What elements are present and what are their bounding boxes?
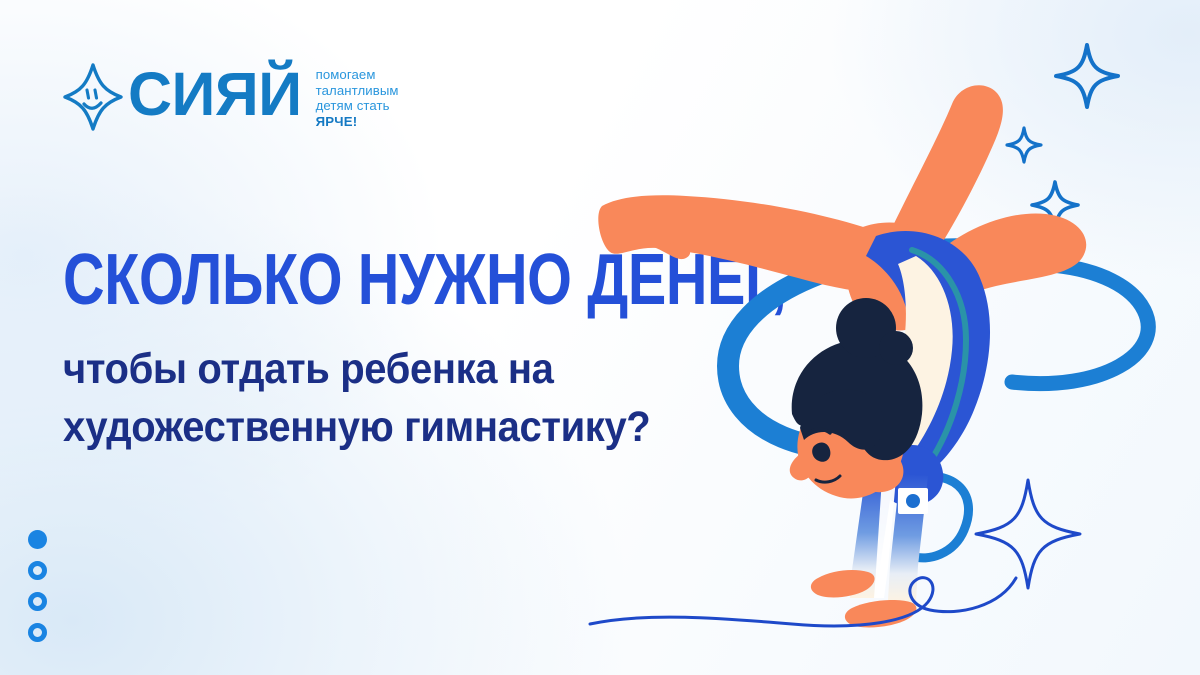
diamond-smiley-logo-icon — [62, 62, 124, 132]
logo-tagline-line-3: детям стать — [316, 98, 399, 114]
carousel-pager[interactable] — [28, 530, 47, 642]
sparkle-outline-ground-icon — [976, 480, 1080, 588]
promo-slide: СИЯЙ помогаем талантливым детям стать ЯР… — [0, 0, 1200, 675]
logo-tagline-accent: ЯРЧЕ! — [316, 114, 399, 130]
brand-logo[interactable]: СИЯЙ помогаем талантливым детям стать ЯР… — [62, 58, 399, 132]
sparkle-large-icon — [1056, 45, 1118, 107]
pager-dot-4[interactable] — [28, 623, 47, 642]
gymnast-figure — [598, 85, 1086, 627]
logo-wordmark: СИЯЙ — [128, 64, 302, 124]
pager-dot-3[interactable] — [28, 592, 47, 611]
pager-dot-2[interactable] — [28, 561, 47, 580]
gymnast-illustration — [560, 10, 1200, 630]
logo-tagline: помогаем талантливым детям стать ЯРЧЕ! — [316, 67, 399, 129]
logo-tagline-line-2: талантливым — [316, 83, 399, 99]
logo-tagline-line-1: помогаем — [316, 67, 399, 83]
pager-dot-1[interactable] — [28, 530, 47, 549]
swirl-line-ground — [590, 578, 1016, 626]
sparkle-small-icon — [1007, 128, 1041, 162]
